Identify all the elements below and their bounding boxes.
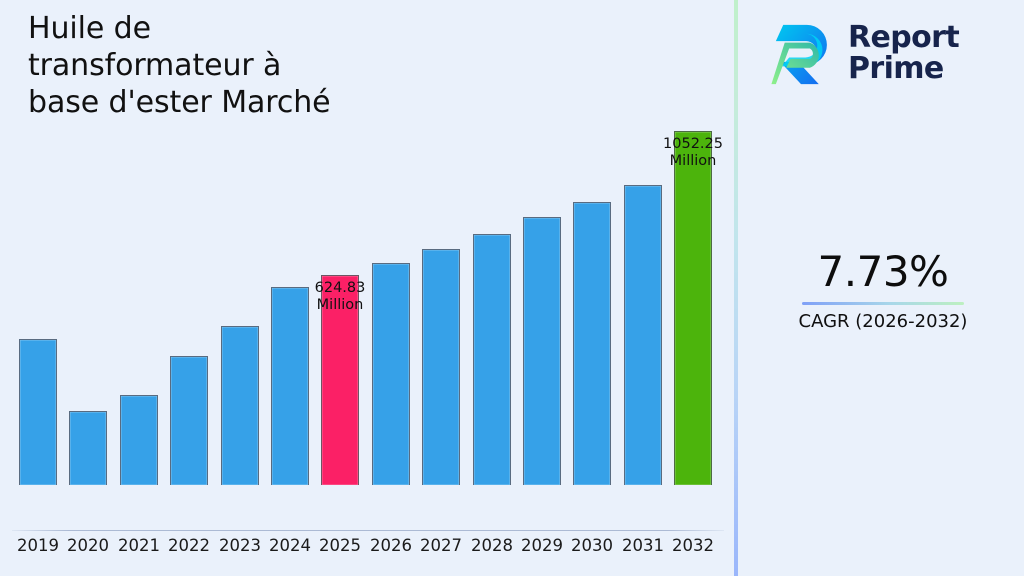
x-axis-tick-2028: 2028 [466,536,518,555]
cagr-divider [802,302,964,305]
x-axis-tick-2032: 2032 [667,536,719,555]
bar-2024[interactable] [271,287,309,485]
x-axis-tick-2021: 2021 [113,536,165,555]
bar-2020[interactable] [69,411,107,485]
x-axis-tick-2029: 2029 [516,536,568,555]
bar-chart-plot: 201920202021202220232024624.83 Million20… [0,0,735,531]
cagr-value: 7.73% [748,250,1018,294]
bar-2019[interactable] [19,339,57,485]
x-axis-tick-2023: 2023 [214,536,266,555]
chart-baseline [12,530,724,531]
chart-panel: Huile de transformateur à base d'ester M… [0,0,735,576]
cagr-block: 7.73% CAGR (2026-2032) [748,250,1018,332]
x-axis-tick-2025: 2025 [314,536,366,555]
x-axis-tick-2022: 2022 [163,536,215,555]
x-axis-tick-2031: 2031 [617,536,669,555]
bar-2032[interactable] [674,131,712,485]
brand-name: Report Prime [848,22,959,85]
cagr-caption: CAGR (2026-2032) [748,311,1018,332]
x-axis-tick-2019: 2019 [12,536,64,555]
x-axis-tick-2026: 2026 [365,536,417,555]
bar-value-label-2032: 1052.25 Million [638,136,748,170]
bar-2029[interactable] [523,217,561,485]
infographic-root: Huile de transformateur à base d'ester M… [0,0,1024,576]
brand-logo: Report Prime [764,12,1008,94]
bar-2028[interactable] [473,234,511,485]
bar-2031[interactable] [624,185,662,485]
x-axis-tick-2024: 2024 [264,536,316,555]
stats-panel: Report Prime 7.73% CAGR (2026-2032) [738,0,1024,576]
bar-2027[interactable] [422,249,460,485]
x-axis-tick-2027: 2027 [415,536,467,555]
x-axis-tick-2020: 2020 [62,536,114,555]
bar-2021[interactable] [120,395,158,485]
bar-2022[interactable] [170,356,208,485]
bar-2026[interactable] [372,263,410,485]
bar-2030[interactable] [573,202,611,485]
report-prime-logo-icon [764,16,838,90]
x-axis-tick-2030: 2030 [566,536,618,555]
bar-2023[interactable] [221,326,259,485]
